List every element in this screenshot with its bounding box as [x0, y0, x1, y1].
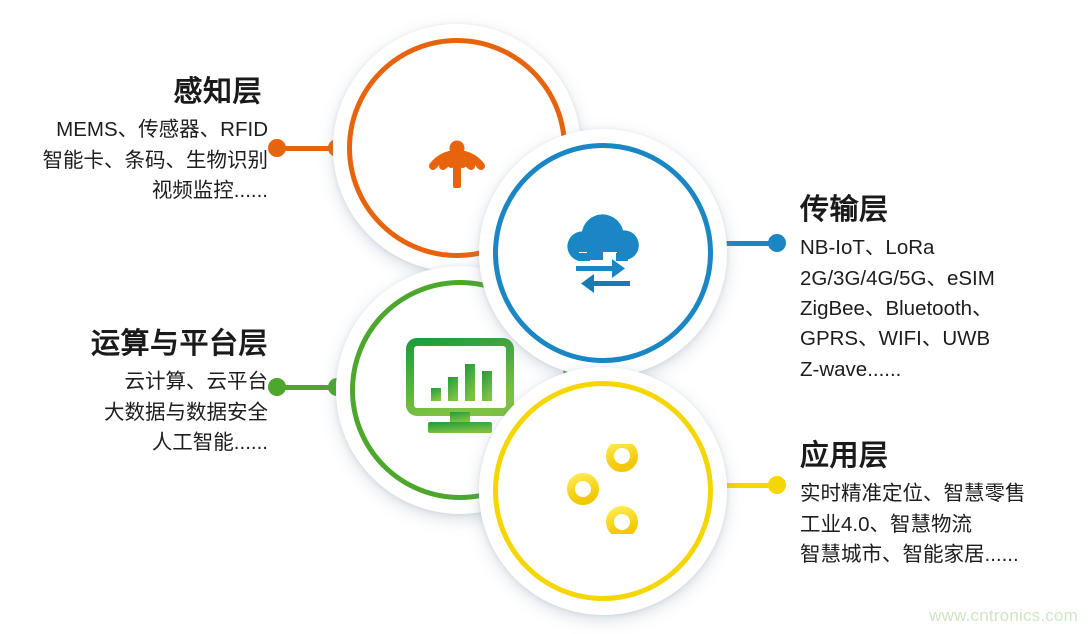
- desc-line: 工业4.0、智慧物流: [800, 510, 1086, 540]
- layer-label-compute: 运算与平台层 云计算、云平台 大数据与数据安全 人工智能......: [28, 328, 268, 458]
- layer-label-sensing: 感知层 MEMS、传感器、RFID 智能卡、条码、生物识别 视频监控......: [22, 76, 268, 206]
- connector-dot-outer: [768, 234, 786, 252]
- layer-node-transmission[interactable]: [479, 129, 727, 377]
- desc-line: Z-wave......: [800, 355, 1072, 385]
- desc-line: 智慧城市、智能家居......: [800, 540, 1086, 570]
- connector-dot-outer: [268, 378, 286, 396]
- desc-line: 云计算、云平台: [28, 367, 268, 397]
- diagram-canvas: 感知层 MEMS、传感器、RFID 智能卡、条码、生物识别 视频监控......…: [0, 0, 1092, 634]
- desc-line: ZigBee、Bluetooth、: [800, 294, 1072, 324]
- desc-line: 智能卡、条码、生物识别: [22, 146, 268, 176]
- connector-dot-outer: [768, 476, 786, 494]
- watermark: www.cntronics.com: [929, 606, 1078, 626]
- layer-title: 传输层: [800, 194, 1072, 227]
- layer-description: MEMS、传感器、RFID 智能卡、条码、生物识别 视频监控......: [22, 115, 268, 206]
- layer-title: 运算与平台层: [28, 328, 268, 361]
- antenna-signal-icon: [403, 92, 511, 205]
- layer-label-transmission: 传输层 NB-IoT、LoRa 2G/3G/4G/5G、eSIM ZigBee、…: [800, 194, 1072, 385]
- layer-title: 感知层: [22, 76, 268, 109]
- desc-line: MEMS、传感器、RFID: [22, 115, 268, 145]
- layer-node-application[interactable]: [479, 367, 727, 615]
- layer-description: NB-IoT、LoRa 2G/3G/4G/5G、eSIM ZigBee、Blue…: [800, 233, 1072, 385]
- layer-description: 实时精准定位、智慧零售 工业4.0、智慧物流 智慧城市、智能家居......: [800, 479, 1086, 570]
- desc-line: 人工智能......: [28, 428, 268, 458]
- connector-compute: [268, 378, 346, 396]
- desc-line: 实时精准定位、智慧零售: [800, 479, 1086, 509]
- sliders-settings-icon: [553, 444, 653, 539]
- layer-title: 应用层: [800, 440, 1086, 473]
- desc-line: 视频监控......: [22, 176, 268, 206]
- layer-label-application: 应用层 实时精准定位、智慧零售 工业4.0、智慧物流 智慧城市、智能家居....…: [800, 440, 1086, 570]
- layer-description: 云计算、云平台 大数据与数据安全 人工智能......: [28, 367, 268, 458]
- desc-line: NB-IoT、LoRa: [800, 233, 1072, 263]
- desc-line: 2G/3G/4G/5G、eSIM: [800, 264, 1072, 294]
- cloud-transfer-icon: [547, 195, 659, 312]
- desc-line: 大数据与数据安全: [28, 398, 268, 428]
- desc-line: GPRS、WIFI、UWB: [800, 324, 1072, 354]
- connector-dot-outer: [268, 139, 286, 157]
